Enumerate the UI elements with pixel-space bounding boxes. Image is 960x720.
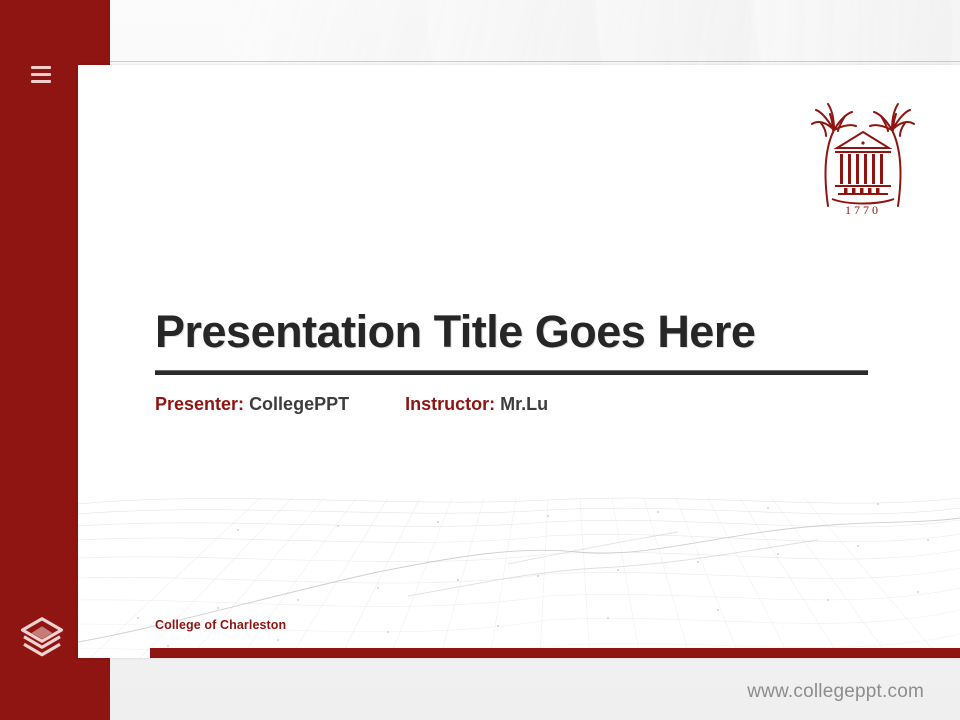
slide-footer-bar — [150, 648, 960, 658]
hamburger-icon[interactable] — [31, 66, 51, 83]
title-divider — [155, 370, 868, 375]
hamburger-bar — [31, 80, 51, 83]
college-of-charleston-crest-icon: 1770 — [808, 98, 918, 218]
slide-canvas: 1770 Presentation Title Goes Here Presen… — [78, 65, 960, 658]
background-divider — [110, 61, 960, 62]
slide-viewer: 1770 Presentation Title Goes Here Presen… — [0, 0, 960, 720]
byline: Presenter: CollegePPT Instructor: Mr.Lu — [155, 394, 875, 415]
hamburger-bar — [31, 73, 51, 76]
instructor-value: Mr.Lu — [500, 394, 548, 414]
slide-footer-text: College of Charleston — [155, 618, 286, 632]
presenter-label: Presenter: — [155, 394, 244, 414]
page-title: Presentation Title Goes Here — [155, 308, 875, 356]
crest-year: 1770 — [845, 203, 881, 217]
site-url: www.collegeppt.com — [747, 681, 924, 703]
instructor-label: Instructor: — [405, 394, 495, 414]
hamburger-bar — [31, 66, 51, 69]
title-block: Presentation Title Goes Here Presenter: … — [155, 308, 875, 415]
presenter-value: CollegePPT — [249, 394, 349, 414]
layers-stack-icon[interactable] — [18, 614, 66, 658]
